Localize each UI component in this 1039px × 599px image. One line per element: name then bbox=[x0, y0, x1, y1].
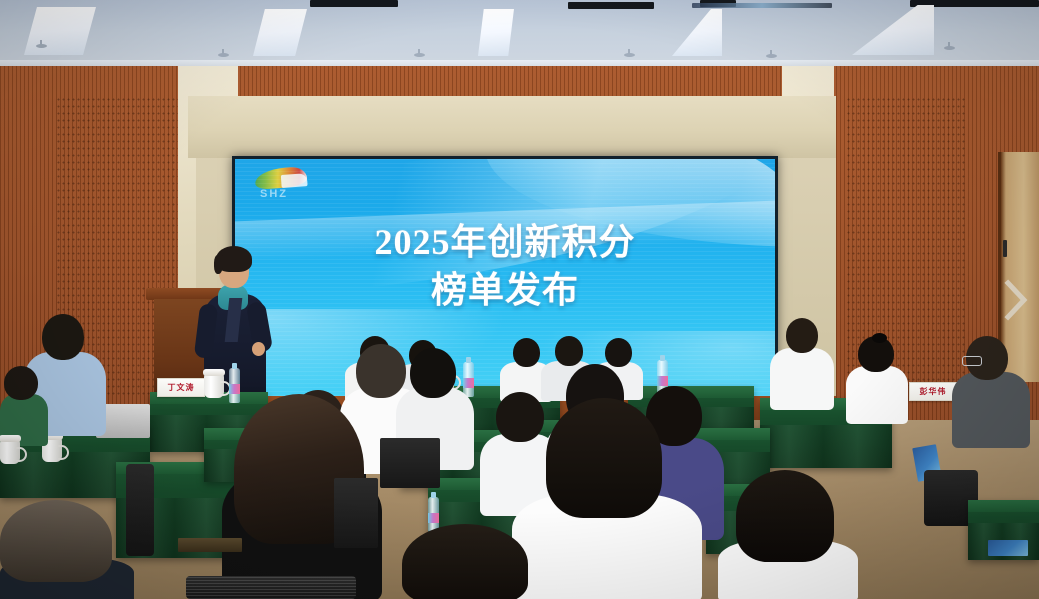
attendee-foreground bbox=[718, 470, 858, 599]
door-handle[interactable] bbox=[1003, 240, 1007, 257]
ceiling bbox=[0, 0, 1039, 68]
tea-mug bbox=[0, 440, 20, 464]
wall-upper-band bbox=[188, 96, 836, 158]
attendee-head bbox=[0, 500, 112, 582]
ceiling-vent bbox=[310, 0, 398, 7]
attendee-body bbox=[846, 366, 908, 424]
eyeglasses-icon bbox=[962, 356, 982, 366]
attendee-head bbox=[555, 336, 583, 366]
name-placard-text: 丁文涛 bbox=[168, 382, 195, 393]
conference-photo: SHZ 2025年创新积分 榜单发布 丁文涛 bbox=[0, 0, 1039, 599]
speaker-hair bbox=[216, 246, 252, 272]
handout-booklet bbox=[988, 540, 1028, 556]
attendee-head bbox=[410, 348, 456, 398]
laptop bbox=[334, 478, 378, 548]
ceiling-spotlight bbox=[944, 46, 955, 50]
bottle-label bbox=[657, 376, 668, 386]
attendee-foreground bbox=[512, 398, 702, 599]
ceiling-spotlight bbox=[766, 54, 777, 58]
attendee-body bbox=[952, 372, 1030, 448]
attendee-head bbox=[736, 470, 834, 562]
organization-logo: SHZ bbox=[255, 168, 311, 208]
logo-text: SHZ bbox=[260, 188, 288, 200]
notebook bbox=[178, 538, 242, 552]
bottle-label bbox=[229, 384, 240, 394]
ceiling-light-panel bbox=[24, 7, 96, 55]
ceiling-spotlight bbox=[36, 44, 47, 48]
attendee-head bbox=[786, 318, 818, 353]
tea-mug bbox=[204, 374, 224, 398]
chevron-right-icon bbox=[1003, 279, 1029, 321]
attendee-foreground bbox=[402, 524, 528, 599]
attendee-head bbox=[402, 524, 528, 599]
slide-title-line2: 榜单发布 bbox=[235, 267, 775, 315]
attendee bbox=[770, 318, 834, 408]
logo-mark-icon bbox=[254, 166, 307, 190]
attendee-head bbox=[42, 314, 84, 360]
ceiling-light-panel bbox=[478, 9, 514, 56]
table-top bbox=[968, 500, 1039, 512]
bottle-label bbox=[428, 513, 439, 523]
name-placard-text: 彭华伟 bbox=[920, 386, 947, 397]
ceiling-light-panel bbox=[852, 5, 934, 55]
name-placard: 彭华伟 bbox=[909, 382, 957, 401]
attendee-body bbox=[770, 348, 834, 410]
hair-clip bbox=[872, 333, 887, 343]
attendee-head bbox=[546, 398, 662, 518]
ceiling-vent bbox=[568, 2, 654, 9]
office-chair bbox=[186, 576, 356, 599]
attendee bbox=[846, 336, 908, 422]
ceiling-light-panel bbox=[253, 9, 307, 56]
table-drape bbox=[760, 425, 892, 468]
attendee-foreground bbox=[0, 500, 134, 599]
attendee-head bbox=[513, 338, 540, 367]
name-placard: 丁文涛 bbox=[157, 378, 205, 397]
next-slide-button[interactable] bbox=[999, 272, 1033, 328]
attendee-head bbox=[605, 338, 632, 367]
laptop bbox=[380, 438, 440, 488]
ceiling-vent bbox=[692, 3, 832, 8]
attendee bbox=[952, 336, 1030, 446]
speaker-hand bbox=[252, 342, 265, 356]
ceiling-light-panel bbox=[672, 9, 722, 56]
ceiling-spotlight bbox=[414, 53, 425, 57]
attendee-head bbox=[4, 366, 38, 400]
slide-title-line1: 2025年创新积分 bbox=[374, 222, 635, 262]
ceiling-spotlight bbox=[218, 53, 229, 57]
attendee bbox=[0, 366, 48, 444]
slide-title: 2025年创新积分 榜单发布 bbox=[235, 219, 775, 314]
ceiling-spotlight bbox=[624, 53, 635, 57]
